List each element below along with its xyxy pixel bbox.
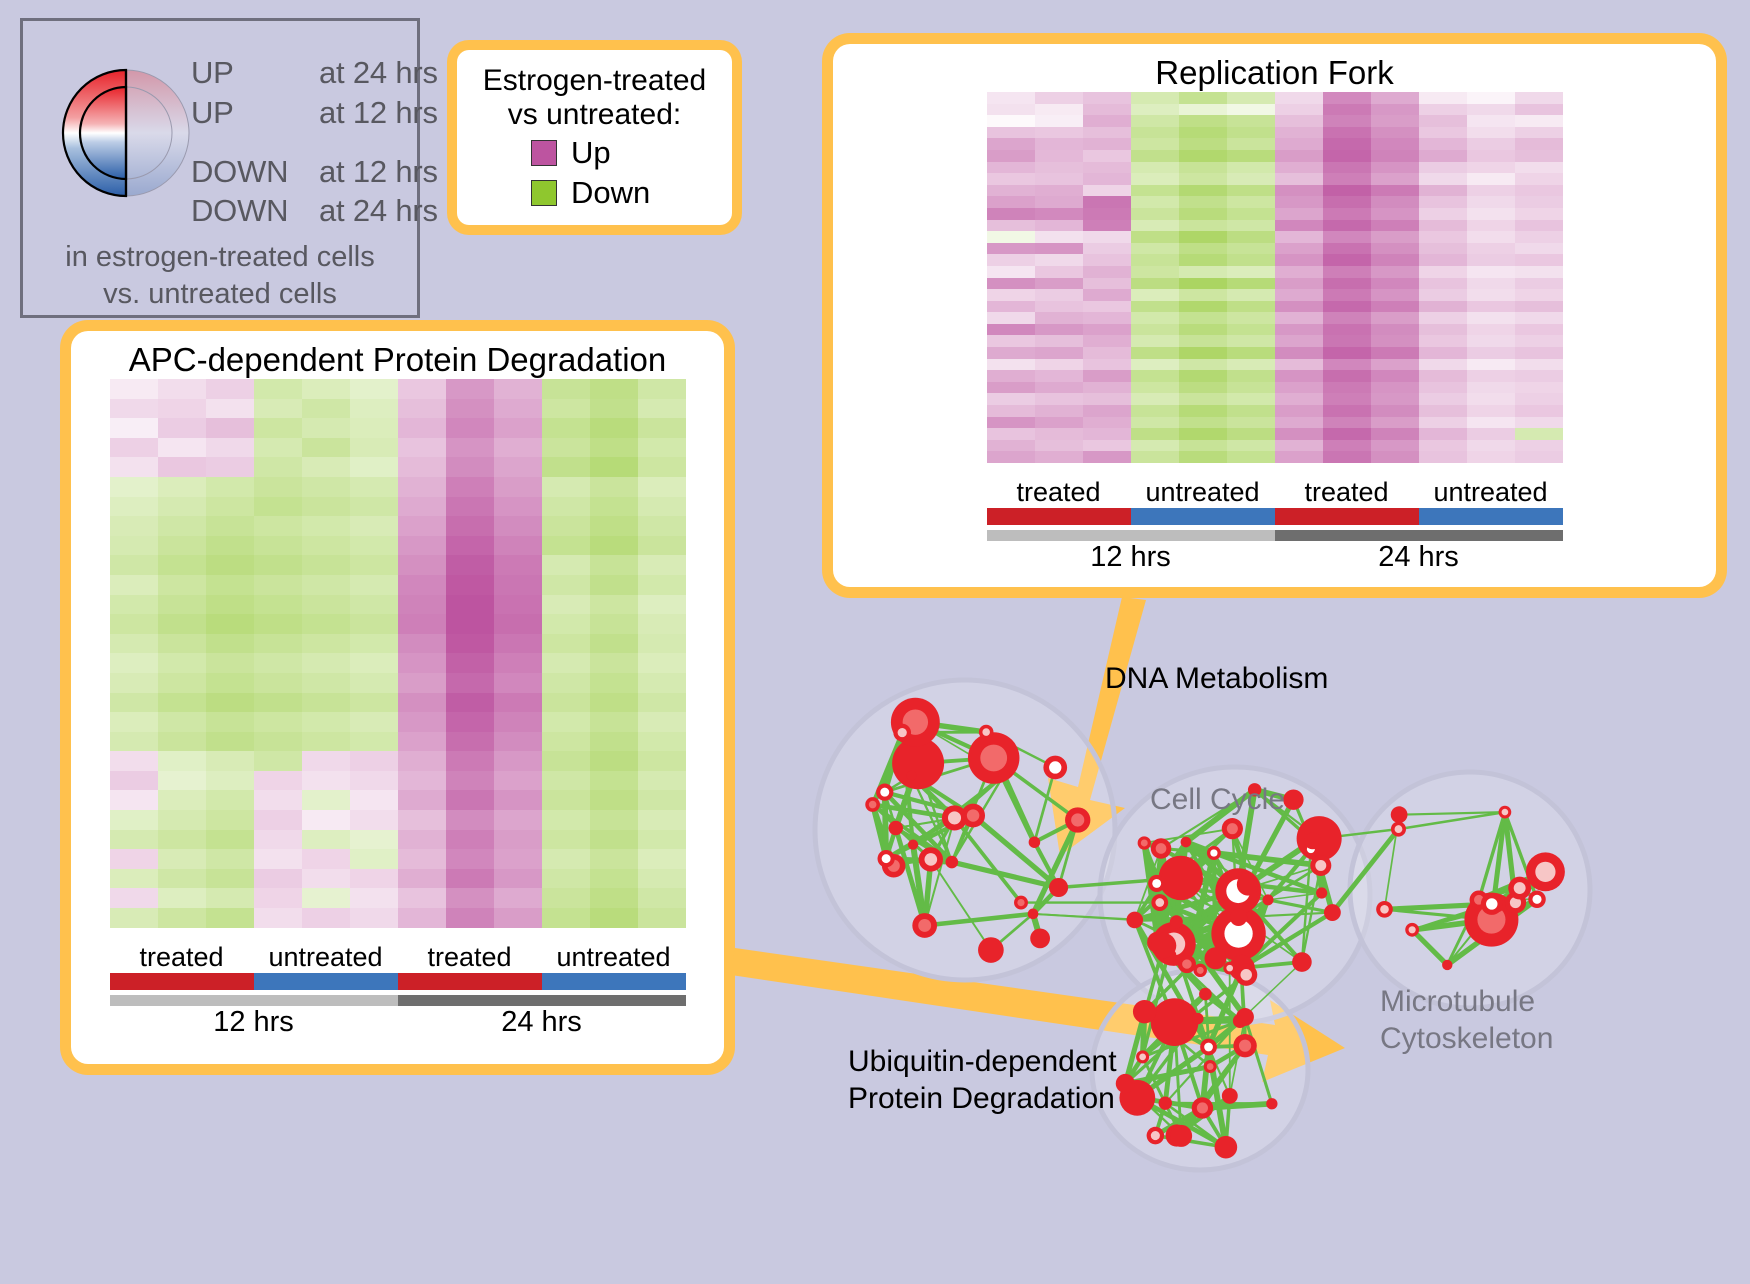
heatmap-cell: [1083, 347, 1131, 359]
network-node[interactable]: [1199, 988, 1212, 1001]
heatmap-cell: [1035, 243, 1083, 255]
network-node[interactable]: [1391, 806, 1408, 823]
node-core: [1502, 809, 1509, 816]
network-node[interactable]: [946, 856, 959, 869]
network-node[interactable]: [1151, 894, 1168, 911]
heatmap-cell: [302, 516, 350, 536]
node-outer-ring: [1159, 1096, 1172, 1109]
node-outer-ring: [1116, 1074, 1135, 1093]
heatmap-cell: [350, 477, 398, 497]
network-node[interactable]: [1236, 1008, 1254, 1026]
network-node[interactable]: [1207, 846, 1221, 860]
heatmap-cell: [350, 614, 398, 634]
heatmap-cell: [1419, 92, 1467, 104]
node-core: [1155, 898, 1164, 907]
heatmap-cell: [542, 732, 590, 752]
heatmap-cell: [1467, 173, 1515, 185]
heatmap-cell: [1131, 324, 1179, 336]
heatmap-cell: [1035, 417, 1083, 429]
network-node[interactable]: [1148, 875, 1165, 892]
heatmap-cell: [1179, 208, 1227, 220]
node-outer-ring: [1215, 1136, 1238, 1159]
heatmap-cell: [398, 634, 446, 654]
network-node[interactable]: [1170, 1125, 1192, 1147]
node-core: [1210, 849, 1217, 856]
network-node[interactable]: [1014, 896, 1028, 910]
heatmap-cell: [206, 888, 254, 908]
updown-key-line1: Estrogen-treated: [467, 64, 722, 98]
heatmap-cell: [446, 693, 494, 713]
heatmap-cell: [1035, 208, 1083, 220]
condition-label: treated: [987, 477, 1131, 508]
network-node[interactable]: [1508, 877, 1531, 900]
heatmap-cell: [1419, 104, 1467, 116]
network-node[interactable]: [1178, 955, 1196, 973]
heatmap-cell: [1275, 451, 1323, 463]
heatmap-cell: [254, 673, 302, 693]
node-outer-ring: [1028, 909, 1039, 920]
heatmap-cell: [1083, 440, 1131, 452]
heatmap-cell: [1371, 289, 1419, 301]
heatmap-cell: [494, 595, 542, 615]
heatmap-cell: [542, 653, 590, 673]
figure-root: UP at 24 hrs UP at 12 hrs DOWN at 12 hrs…: [0, 0, 1750, 1279]
heatmap-cell: [1131, 150, 1179, 162]
heatmap-cell: [446, 732, 494, 752]
network-node[interactable]: [893, 724, 911, 742]
network-node[interactable]: [1481, 893, 1503, 915]
heatmap-cell: [1467, 289, 1515, 301]
heatmap-cell: [1323, 173, 1371, 185]
heatmap-cell: [638, 810, 686, 830]
network-node[interactable]: [908, 840, 918, 850]
heatmap-cell: [1083, 92, 1131, 104]
heatmap-cell: [1371, 127, 1419, 139]
heatmap-cell: [446, 418, 494, 438]
network-node[interactable]: [1304, 833, 1321, 850]
heatmap-cell: [1515, 301, 1563, 313]
node-outer-ring: [1266, 1098, 1277, 1109]
network-node[interactable]: [876, 784, 893, 801]
node-outer-ring: [1442, 960, 1452, 970]
heatmap-cell: [542, 849, 590, 869]
network-node[interactable]: [1205, 947, 1227, 969]
network-node[interactable]: [1376, 901, 1393, 918]
network-node[interactable]: [1316, 887, 1327, 898]
network-node[interactable]: [919, 847, 943, 871]
heatmap-cell: [1371, 208, 1419, 220]
heatmap-cell: [398, 536, 446, 556]
heatmap-cell: [1323, 266, 1371, 278]
heatmap-cell: [542, 536, 590, 556]
heatmap-cell: [110, 595, 158, 615]
timepoint-color-24hrs: [398, 995, 686, 1006]
heatmap-cell: [1083, 243, 1131, 255]
heatmap-cell: [1179, 162, 1227, 174]
network-node[interactable]: [1324, 904, 1341, 921]
condition-color-bar: [987, 508, 1563, 525]
heatmap-cell: [110, 399, 158, 419]
heatmap-cell: [110, 653, 158, 673]
heatmap-cell: [350, 830, 398, 850]
network-node[interactable]: [878, 850, 895, 867]
heatmap-cell: [1227, 150, 1275, 162]
node-outer-ring: [1199, 988, 1212, 1001]
network-node[interactable]: [1223, 962, 1236, 975]
heatmap-cell: [398, 908, 446, 928]
heatmap-cell: [987, 382, 1035, 394]
heatmap-cell: [590, 477, 638, 497]
network-node[interactable]: [1049, 878, 1068, 897]
heatmap-cell: [206, 418, 254, 438]
heatmap-cell: [254, 712, 302, 732]
heatmap-cell: [254, 516, 302, 536]
network-node[interactable]: [1222, 1088, 1238, 1104]
condition-label: untreated: [1419, 477, 1563, 508]
heatmap-cell: [1419, 405, 1467, 417]
network-node[interactable]: [1043, 756, 1067, 780]
node-core: [1535, 862, 1555, 882]
heatmap-cell: [1419, 243, 1467, 255]
network-node[interactable]: [1151, 838, 1171, 858]
heatmap-cell: [590, 888, 638, 908]
heatmap-cell: [638, 908, 686, 928]
network-node[interactable]: [1391, 822, 1406, 837]
heatmap-cell: [110, 497, 158, 517]
heatmap-cell: [158, 693, 206, 713]
heatmap-cell: [1083, 127, 1131, 139]
heatmap-cell: [1083, 278, 1131, 290]
heatmap-cell: [1371, 335, 1419, 347]
heatmap-cell: [542, 457, 590, 477]
heatmap-cell: [350, 693, 398, 713]
network-node[interactable]: [888, 821, 902, 835]
heatmap-cell: [254, 634, 302, 654]
heatmap-cell: [158, 399, 206, 419]
network-node[interactable]: [1499, 806, 1512, 819]
network-node[interactable]: [1222, 818, 1243, 839]
node-core: [1226, 965, 1233, 972]
heatmap-cell: [1083, 359, 1131, 371]
heatmap-cell: [1323, 243, 1371, 255]
network-node[interactable]: [979, 725, 994, 740]
heatmap-cell: [254, 438, 302, 458]
heatmap-cell: [350, 536, 398, 556]
heatmap-cell: [1227, 127, 1275, 139]
heatmap-cell: [1035, 335, 1083, 347]
heatmap-cell: [1227, 359, 1275, 371]
heatmap-cell: [1227, 405, 1275, 417]
heatmap-cell: [110, 457, 158, 477]
heatmap-cell: [398, 732, 446, 752]
heatmap-cell: [638, 438, 686, 458]
heatmap-cell: [1179, 127, 1227, 139]
heatmap-cell: [110, 477, 158, 497]
heatmap-cell: [254, 693, 302, 713]
network-node[interactable]: [1266, 1098, 1277, 1109]
condition-label: untreated: [1131, 477, 1275, 508]
network-node[interactable]: [1204, 1060, 1217, 1073]
heatmap-cell: [398, 575, 446, 595]
node-outer-ring: [1192, 1013, 1203, 1024]
heatmap-cell: [494, 536, 542, 556]
heatmap-cell: [638, 849, 686, 869]
heatmap-cell: [1323, 231, 1371, 243]
heatmap-cell: [1131, 162, 1179, 174]
heatmap-cell: [1515, 220, 1563, 232]
network-node[interactable]: [1237, 873, 1259, 895]
heatmap-cell: [158, 908, 206, 928]
network-node[interactable]: [1526, 852, 1565, 891]
network-node[interactable]: [1028, 909, 1039, 920]
network-node[interactable]: [1310, 855, 1331, 876]
network-node[interactable]: [1200, 1039, 1217, 1056]
heatmap-cell: [1419, 266, 1467, 278]
network-node[interactable]: [1233, 1034, 1256, 1057]
heatmap-cell: [302, 849, 350, 869]
heatmap-cell: [1419, 312, 1467, 324]
heatmap-cell: [494, 399, 542, 419]
network-node[interactable]: [1151, 933, 1176, 958]
heatmap-cell: [987, 301, 1035, 313]
network-node[interactable]: [1215, 1136, 1238, 1159]
network-node[interactable]: [968, 732, 1020, 784]
heatmap-cell: [158, 712, 206, 732]
heatmap-cell: [158, 790, 206, 810]
heatmap-cell: [398, 516, 446, 536]
heatmap-cell: [206, 477, 254, 497]
network-node[interactable]: [1159, 856, 1203, 900]
heatmap-cell: [1515, 196, 1563, 208]
network-node[interactable]: [1136, 1050, 1149, 1063]
heatmap-cell: [1515, 127, 1563, 139]
network-node[interactable]: [1192, 1013, 1203, 1024]
node-core: [880, 788, 889, 797]
heatmap-cell: [350, 712, 398, 732]
heatmap-cell: [1515, 370, 1563, 382]
heatmap-cell: [350, 810, 398, 830]
heatmap-cell: [1515, 335, 1563, 347]
heatmap-cell: [206, 438, 254, 458]
heatmap-cell: [398, 614, 446, 634]
heatmap-cell: [542, 712, 590, 732]
heatmap-cell: [110, 908, 158, 928]
network-node[interactable]: [998, 769, 1009, 780]
heatmap-cell: [1515, 382, 1563, 394]
heatmap-cell: [542, 888, 590, 908]
node-outer-ring: [1263, 894, 1274, 905]
heatmap-cell: [1083, 208, 1131, 220]
network-node[interactable]: [912, 913, 937, 938]
network-node[interactable]: [906, 771, 916, 781]
heatmap-cell: [1179, 289, 1227, 301]
panel-card: APC-dependent Protein Degradation treate…: [71, 331, 724, 1064]
heatmap-cell: [254, 849, 302, 869]
heatmap-cell: [1419, 451, 1467, 463]
node-outer-ring: [1126, 912, 1143, 929]
legend-row-down-24: DOWN at 24 hrs: [191, 193, 438, 229]
heatmap-cell: [1419, 440, 1467, 452]
heatmap-cell: [1083, 417, 1131, 429]
heatmap-cell: [590, 653, 638, 673]
heatmap-cell: [590, 751, 638, 771]
network-node[interactable]: [1528, 891, 1546, 909]
heatmap-cell: [1179, 173, 1227, 185]
heatmap-cell: [1275, 173, 1323, 185]
heatmap-cell: [542, 595, 590, 615]
heatmap-cell: [1467, 382, 1515, 394]
heatmap-cell: [1371, 347, 1419, 359]
panel-card: Replication Fork treated untreated treat…: [833, 44, 1716, 587]
heatmap-cell: [1275, 370, 1323, 382]
heatmap-cell: [1227, 451, 1275, 463]
network-node[interactable]: [1029, 836, 1041, 848]
heatmap-cell: [638, 790, 686, 810]
heatmap-cell: [590, 536, 638, 556]
heatmap-cell: [350, 908, 398, 928]
node-core: [869, 801, 877, 809]
heatmap-cell: [1179, 405, 1227, 417]
network-node[interactable]: [1133, 1000, 1156, 1023]
heatmap-cell: [446, 849, 494, 869]
heatmap-cell: [1179, 382, 1227, 394]
heatmap-cell: [1227, 301, 1275, 313]
heatmap-cell: [110, 830, 158, 850]
heatmap-cell: [1131, 138, 1179, 150]
heatmap-cell: [1419, 208, 1467, 220]
heatmap-cell: [110, 810, 158, 830]
network-node[interactable]: [961, 804, 985, 828]
network-node[interactable]: [1030, 928, 1050, 948]
node-outer-ring: [1304, 833, 1321, 850]
heatmap-cell: [206, 693, 254, 713]
heatmap-cell: [254, 888, 302, 908]
network-node[interactable]: [978, 937, 1004, 963]
network-node[interactable]: [1192, 1097, 1213, 1118]
heatmap-cell: [1227, 115, 1275, 127]
heatmap-cell: [1131, 231, 1179, 243]
node-outer-ring: [1133, 1000, 1156, 1023]
heatmap-cell: [1371, 428, 1419, 440]
heatmap-cell: [1275, 417, 1323, 429]
heatmap-cell: [638, 614, 686, 634]
network-node[interactable]: [1235, 964, 1257, 986]
network-node[interactable]: [1283, 790, 1303, 810]
heatmap-cell: [1131, 127, 1179, 139]
heatmap-cell: [1467, 324, 1515, 336]
heatmap-cell: [1083, 266, 1131, 278]
network-node[interactable]: [1405, 923, 1419, 937]
heatmap-cell: [1323, 220, 1371, 232]
heatmap-cell: [350, 595, 398, 615]
heatmap-cell: [1323, 92, 1371, 104]
network-node[interactable]: [1126, 912, 1143, 929]
network-node[interactable]: [1159, 1096, 1172, 1109]
heatmap-cell: [1035, 451, 1083, 463]
heatmap-cell: [638, 575, 686, 595]
condition-label: treated: [398, 942, 542, 973]
heatmap-cell: [1467, 405, 1515, 417]
network-node[interactable]: [1263, 894, 1274, 905]
heatmap-cell: [1323, 405, 1371, 417]
network-node[interactable]: [1292, 952, 1312, 972]
heatmap-cell: [1323, 104, 1371, 116]
heatmap-cell: [542, 516, 590, 536]
heatmap-cell: [1275, 312, 1323, 324]
heatmap-cell: [398, 555, 446, 575]
network-node[interactable]: [1116, 1074, 1135, 1093]
heatmap-cell: [1419, 138, 1467, 150]
heatmap-cell: [1083, 289, 1131, 301]
heatmap-cell: [446, 790, 494, 810]
heatmap-cell: [494, 634, 542, 654]
heatmap-cell: [446, 379, 494, 399]
heatmap-cell: [1515, 162, 1563, 174]
heatmap-cell: [1515, 138, 1563, 150]
heatmap-cell: [987, 127, 1035, 139]
heatmap-cell: [350, 399, 398, 419]
heatmap-cell: [1467, 278, 1515, 290]
heatmap-cell: [158, 771, 206, 791]
heatmap-cell: [398, 790, 446, 810]
heatmap-cell: [1467, 243, 1515, 255]
heatmap-cell: [638, 497, 686, 517]
network-node[interactable]: [1065, 807, 1090, 832]
down-swatch-icon: [531, 180, 557, 206]
heatmap-cell: [1323, 208, 1371, 220]
heatmap-cell: [1419, 220, 1467, 232]
network-node[interactable]: [1138, 836, 1151, 849]
heatmap-cell: [1035, 359, 1083, 371]
network-node[interactable]: [1194, 964, 1207, 977]
network-node[interactable]: [1147, 1127, 1165, 1145]
network-node[interactable]: [1151, 998, 1199, 1046]
network-node[interactable]: [1442, 960, 1452, 970]
heatmap-cell: [1083, 231, 1131, 243]
heatmap-cell: [590, 497, 638, 517]
heatmap-cell: [494, 771, 542, 791]
network-node[interactable]: [1230, 909, 1247, 926]
heatmap-cell: [302, 869, 350, 889]
heatmap-cell: [158, 614, 206, 634]
heatmap-cell: [590, 418, 638, 438]
heatmap-cell: [1227, 312, 1275, 324]
network-node[interactable]: [865, 797, 880, 812]
heatmap-cell: [638, 418, 686, 438]
network-node[interactable]: [1170, 915, 1183, 928]
network-node[interactable]: [1181, 837, 1192, 848]
heatmap-cell: [254, 536, 302, 556]
heatmap-cell: [158, 751, 206, 771]
heatmap-cell: [1419, 347, 1467, 359]
heatmap-cell: [398, 830, 446, 850]
heatmap-cell: [110, 849, 158, 869]
heatmap-cell: [254, 614, 302, 634]
heatmap-cell: [1035, 127, 1083, 139]
heatmap-cell: [1467, 162, 1515, 174]
heatmap-cell: [638, 399, 686, 419]
heatmap-cell: [1467, 104, 1515, 116]
node-outer-ring: [908, 840, 918, 850]
heatmap-cell: [542, 810, 590, 830]
heatmap-cell: [446, 575, 494, 595]
heatmap-cell: [206, 732, 254, 752]
heatmap-cell: [1275, 393, 1323, 405]
heatmap-cell: [254, 732, 302, 752]
heatmap-cell: [302, 536, 350, 556]
heatmap-cell: [987, 266, 1035, 278]
node-outer-ring: [1292, 952, 1312, 972]
